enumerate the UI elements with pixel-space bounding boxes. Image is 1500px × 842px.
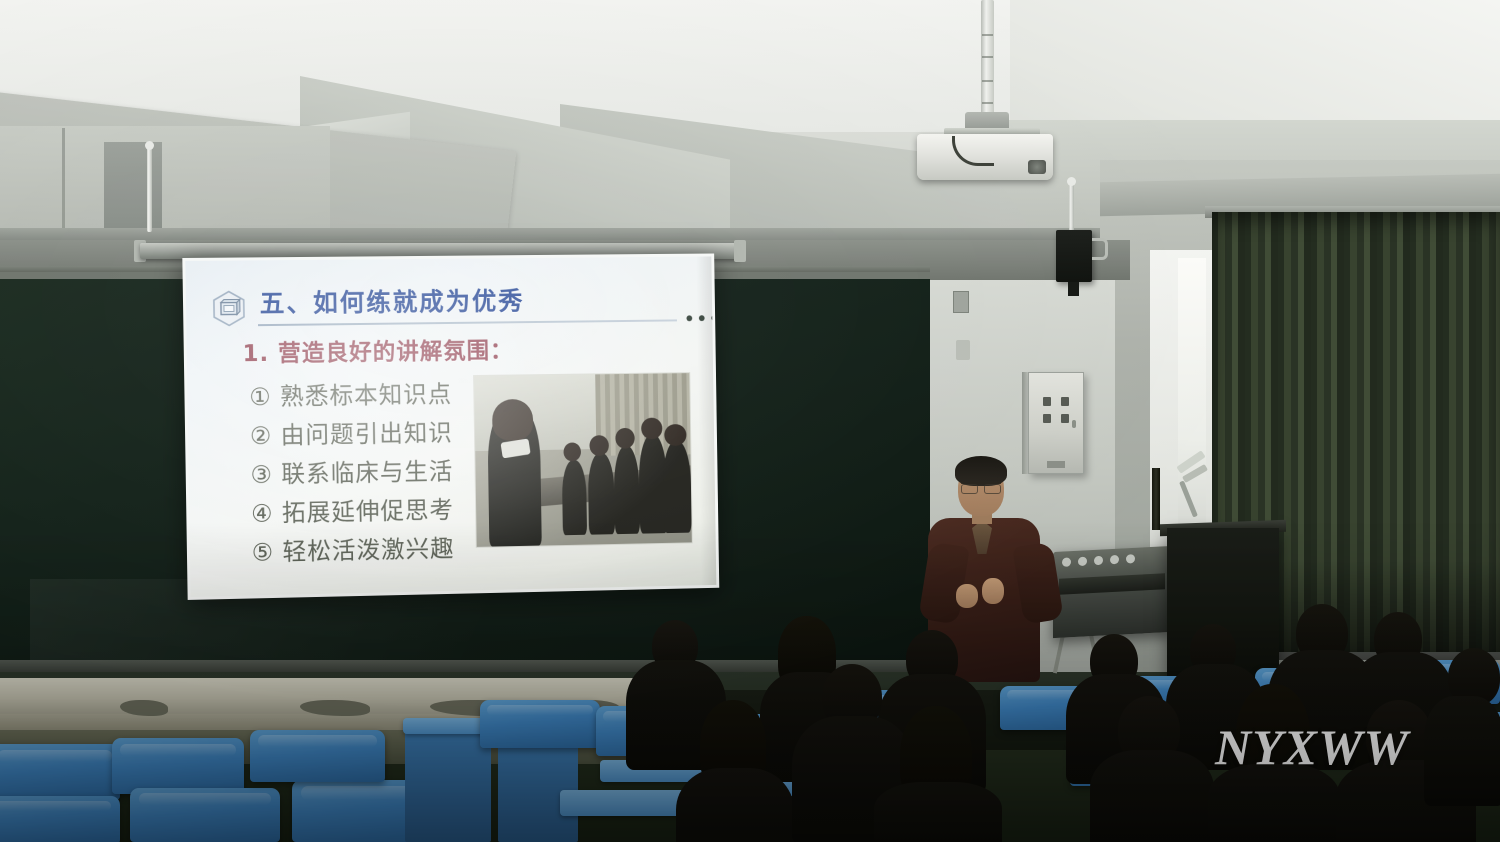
seat[interactable]	[0, 796, 120, 842]
panel-button[interactable]	[1061, 397, 1069, 406]
ceiling-beam-left-face	[0, 126, 330, 236]
hexagon-cube-icon	[212, 290, 246, 326]
seat-desk[interactable]	[560, 790, 695, 816]
panel-button[interactable]	[1043, 397, 1051, 406]
ceiling-beam-seam	[62, 128, 65, 228]
seat-side-panel[interactable]	[405, 724, 491, 842]
seat[interactable]	[0, 744, 120, 800]
slide-subtitle: 1. 营造良好的讲解氛围：	[242, 331, 513, 368]
presenter-hand-left	[956, 584, 978, 608]
lecture-hall-scene: 五、如何练就成为优秀 1. 营造良好的讲解氛围： ① 熟悉标本知识点 ② 由问题…	[0, 0, 1500, 842]
presenter-hand-right	[982, 578, 1004, 604]
wall-speaker-foot	[1068, 282, 1079, 296]
panel-lock-icon[interactable]	[1072, 420, 1076, 428]
slide-inset-photo	[473, 372, 693, 548]
seat[interactable]	[480, 700, 600, 748]
slide-surface: 五、如何练就成为优秀 1. 营造良好的讲解氛围： ① 熟悉标本知识点 ② 由问题…	[182, 253, 719, 599]
watermark: NYXWW	[1215, 718, 1409, 776]
seat[interactable]	[250, 730, 385, 782]
projector-pole	[981, 0, 994, 126]
seat-side-panel[interactable]	[498, 732, 578, 842]
slide-title-divider	[258, 319, 677, 326]
wall-plate	[953, 291, 969, 313]
projection-screen[interactable]: 五、如何练就成为优秀 1. 营造良好的讲解氛围： ① 熟悉标本知识点 ② 由问题…	[182, 253, 719, 599]
wall-sensor	[956, 340, 970, 360]
panel-button[interactable]	[1043, 414, 1051, 423]
podium-microphone	[1152, 468, 1160, 530]
seat[interactable]	[112, 738, 244, 794]
screen-fold-shadow	[696, 256, 716, 585]
slide-title: 五、如何练就成为优秀	[259, 282, 524, 320]
wall-speaker-bracket	[1092, 238, 1108, 260]
panel-button[interactable]	[1061, 414, 1069, 423]
wall-speaker	[1056, 230, 1092, 282]
slide-header: 五、如何练就成为优秀	[212, 280, 697, 333]
ceiling-beam-notch	[104, 142, 162, 234]
ceiling-support-rod-left	[147, 146, 152, 232]
projector-lens-icon	[1028, 160, 1046, 174]
glasses-icon	[961, 482, 1001, 490]
seat[interactable]	[130, 788, 280, 842]
screen-roller-cap-right	[734, 240, 746, 262]
